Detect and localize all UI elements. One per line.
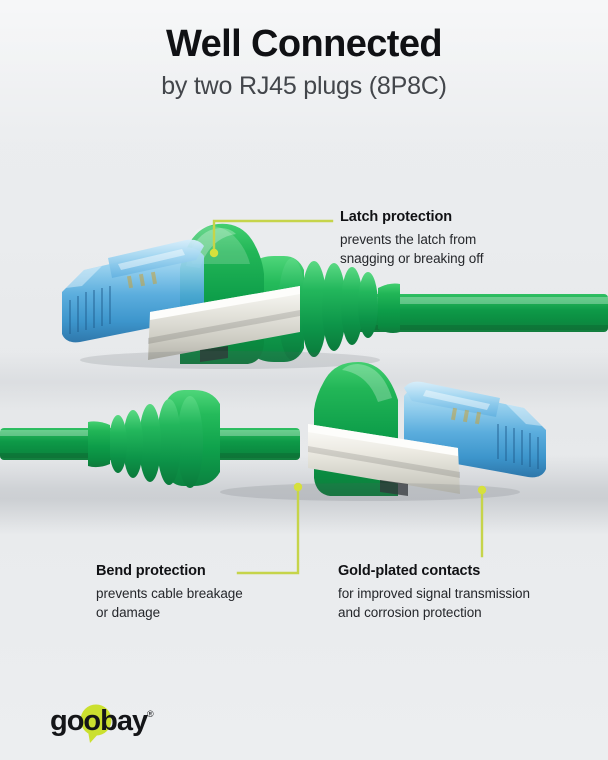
header-block: Well Connected by two RJ45 plugs (8P8C) bbox=[0, 24, 608, 102]
callout-title: Bend protection bbox=[96, 562, 326, 582]
callout-body-line-1: prevents cable breakage bbox=[96, 584, 326, 603]
callout-body-line-2: or damage bbox=[96, 603, 326, 622]
callout-body-line-2: and corrosion protection bbox=[338, 603, 588, 622]
callout-title: Latch protection bbox=[340, 208, 590, 228]
boot-ribs-bottom bbox=[88, 390, 220, 488]
poster-canvas: Well Connected by two RJ45 plugs (8P8C) … bbox=[0, 0, 608, 760]
callout-bend-protection: Bend protection prevents cable breakage … bbox=[96, 562, 326, 622]
callout-body-line-1: prevents the latch from bbox=[340, 230, 590, 249]
page-title: Well Connected bbox=[0, 24, 608, 65]
callout-gold-plated-contacts: Gold-plated contacts for improved signal… bbox=[338, 562, 588, 622]
goobay-logo: goobay ® bbox=[50, 703, 190, 743]
logo-trademark: ® bbox=[147, 709, 154, 719]
cable-illustration bbox=[0, 0, 608, 760]
cable-bottom bbox=[0, 362, 546, 501]
logo-wordmark: goobay bbox=[50, 705, 148, 737]
callout-body-line-1: for improved signal transmission bbox=[338, 584, 588, 603]
callout-latch-protection: Latch protection prevents the latch from… bbox=[340, 208, 590, 268]
page-subtitle: by two RJ45 plugs (8P8C) bbox=[0, 71, 608, 102]
callout-body-line-2: snagging or breaking off bbox=[340, 249, 590, 268]
callout-title: Gold-plated contacts bbox=[338, 562, 588, 582]
